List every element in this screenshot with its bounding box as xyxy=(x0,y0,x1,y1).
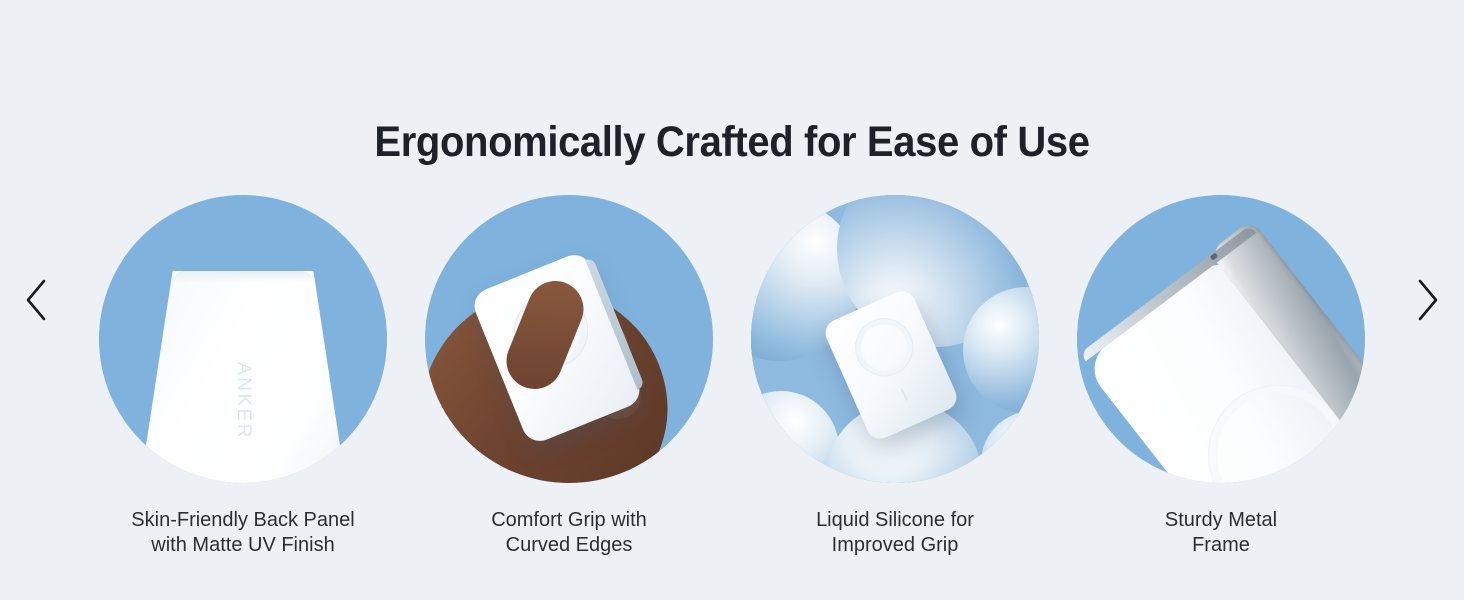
carousel-slide-2[interactable]: Comfort Grip with Curved Edges xyxy=(425,195,713,558)
carousel-next-button[interactable] xyxy=(1400,272,1456,328)
slide-image-back-panel: ANKER xyxy=(99,195,387,483)
slide-caption: Comfort Grip with Curved Edges xyxy=(491,508,647,558)
slide-caption: Skin-Friendly Back Panel with Matte UV F… xyxy=(131,508,354,558)
page-title: Ergonomically Crafted for Ease of Use xyxy=(51,118,1413,167)
chevron-left-icon xyxy=(23,278,49,322)
feature-carousel: Ergonomically Crafted for Ease of Use AN… xyxy=(0,0,1464,600)
anker-brand-mark: ANKER xyxy=(232,362,254,440)
slide-image-metal-frame xyxy=(1077,195,1365,483)
carousel-slides: ANKER Skin-Friendly Back Panel with Matt… xyxy=(99,195,1365,555)
chevron-right-icon xyxy=(1415,278,1441,322)
slide-caption: Sturdy Metal Frame xyxy=(1165,508,1277,558)
carousel-slide-1[interactable]: ANKER Skin-Friendly Back Panel with Matt… xyxy=(99,195,387,558)
carousel-slide-3[interactable]: Liquid Silicone for Improved Grip xyxy=(751,195,1039,558)
carousel-prev-button[interactable] xyxy=(8,272,64,328)
carousel-slide-4[interactable]: Sturdy Metal Frame xyxy=(1077,195,1365,558)
slide-image-comfort-grip xyxy=(425,195,713,483)
slide-caption: Liquid Silicone for Improved Grip xyxy=(816,508,974,558)
slide-image-liquid-silicone xyxy=(751,195,1039,483)
